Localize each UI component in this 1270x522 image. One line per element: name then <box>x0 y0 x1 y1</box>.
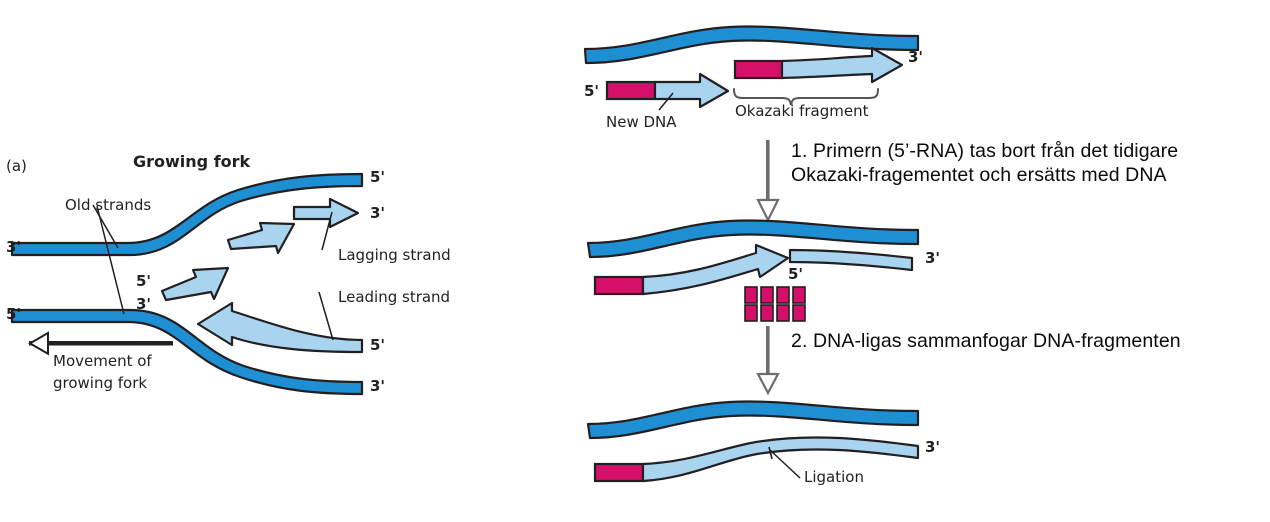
figure-artwork <box>0 0 1270 522</box>
panel-b-step1-artwork <box>585 27 918 110</box>
prime-b-step2-right: 3' <box>925 249 940 267</box>
prime-b-step3-right: 3' <box>925 438 940 456</box>
rna-primer-okazaki <box>735 61 782 78</box>
okazaki-fragment-label: Okazaki fragment <box>735 102 869 120</box>
okazaki-arrow <box>782 48 902 82</box>
rna-primer-step3 <box>595 464 643 481</box>
prime-a-leading-3: 3' <box>370 377 385 395</box>
dna-replication-figure: (a) Growing fork Old strands Lagging str… <box>0 0 1270 522</box>
leader-leading <box>319 292 333 340</box>
lagging-arrow-1 <box>162 268 228 300</box>
leader-old-strands-lower <box>97 206 124 314</box>
annotation-step1-line2: Okazaki-fragementet och ersätts med DNA <box>791 164 1167 188</box>
prime-a-leading-5: 5' <box>370 336 385 354</box>
rna-primer-step2 <box>595 277 643 294</box>
annotation-step1-line1: 1. Primern (5’-RNA) tas bort från det ti… <box>791 140 1178 164</box>
process-arrow-1 <box>758 140 778 220</box>
template-strand-step2 <box>588 221 918 257</box>
old-strands-label: Old strands <box>65 196 151 214</box>
panel-b-step2-artwork <box>588 221 918 321</box>
rna-primer-step1 <box>607 82 655 99</box>
ligation-label: Ligation <box>804 468 864 486</box>
fork-movement-label-line2: growing fork <box>53 374 147 392</box>
prime-a-right-arrow: 3' <box>370 204 385 222</box>
prime-b-step2-gap: 5' <box>788 265 803 283</box>
downstream-fragment-step2 <box>790 250 912 270</box>
prime-a-fork-upper: 5' <box>136 272 151 290</box>
prime-a-left-top: 3' <box>6 238 21 256</box>
prime-a-fork-lower: 3' <box>136 295 151 313</box>
process-arrow-2 <box>758 326 778 393</box>
prime-a-right-top: 5' <box>370 168 385 186</box>
panel-a-title: Growing fork <box>133 152 250 171</box>
leading-strand-label: Leading strand <box>338 288 450 306</box>
fork-movement-arrow <box>29 333 173 354</box>
prime-a-left-bottom: 5' <box>6 305 21 323</box>
fork-movement-label-line1: Movement of <box>53 352 152 370</box>
panel-b-step3-artwork <box>588 402 918 481</box>
lagging-strand-label: Lagging strand <box>338 246 451 264</box>
leader-ligation <box>770 450 800 478</box>
panel-a-tag: (a) <box>6 157 27 175</box>
annotation-step2-line1: 2. DNA-ligas sammanfogar DNA-fragmenten <box>791 330 1181 354</box>
template-strand-step3 <box>588 402 918 438</box>
prime-b-step1-left: 5' <box>584 82 599 100</box>
rna-nucleotide-grid <box>745 287 805 321</box>
leading-strand-arrow <box>198 303 362 352</box>
prime-b-step1-right: 3' <box>908 48 923 66</box>
lagging-arrow-3 <box>294 199 358 227</box>
lagging-arrow-2 <box>228 223 294 253</box>
new-dna-label: New DNA <box>606 113 677 131</box>
